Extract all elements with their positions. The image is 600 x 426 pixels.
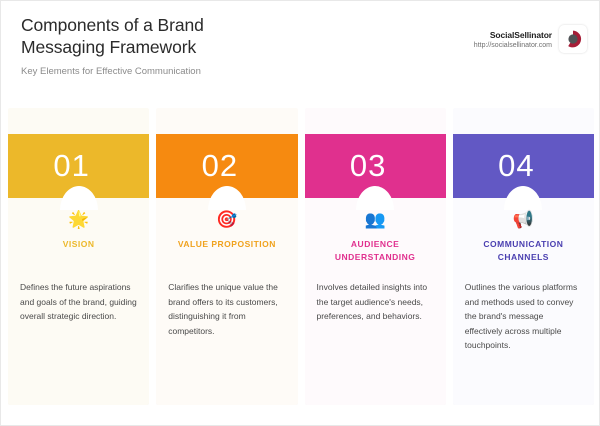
- steps-row: 01 🌟 VISION Defines the future aspiratio…: [1, 108, 600, 408]
- step-number: 02: [202, 148, 238, 184]
- two-people-icon: 👥: [305, 206, 446, 232]
- step-title: AUDIENCE UNDERSTANDING: [313, 238, 438, 264]
- step-card-01[interactable]: 01 🌟 VISION Defines the future aspiratio…: [8, 108, 149, 405]
- megaphone-icon: 📢: [453, 206, 594, 232]
- dart-target-icon: 🎯: [156, 206, 297, 232]
- page-title: Components of a Brand Messaging Framewor…: [21, 14, 351, 58]
- brand-name: SocialSellinator: [474, 30, 552, 40]
- step-number: 04: [498, 148, 534, 184]
- header: Components of a Brand Messaging Framewor…: [1, 1, 600, 108]
- brand-text: SocialSellinator http://socialsellinator…: [474, 30, 552, 49]
- step-body: Clarifies the unique value the brand off…: [168, 280, 285, 338]
- brand-url: http://socialsellinator.com: [474, 42, 552, 49]
- page-subtitle: Key Elements for Effective Communication: [21, 65, 351, 78]
- step-number: 03: [350, 148, 386, 184]
- step-card-03[interactable]: 03 👥 AUDIENCE UNDERSTANDING Involves det…: [305, 108, 446, 405]
- step-body: Outlines the various platforms and metho…: [465, 280, 582, 353]
- step-title: COMMUNICATION CHANNELS: [461, 238, 586, 264]
- step-card-02[interactable]: 02 🎯 VALUE PROPOSITION Clarifies the uni…: [156, 108, 297, 405]
- sparkle-star-icon: 🌟: [8, 206, 149, 232]
- brand-block: SocialSellinator http://socialsellinator…: [474, 25, 587, 53]
- step-card-04[interactable]: 04 📢 COMMUNICATION CHANNELS Outlines the…: [453, 108, 594, 405]
- step-number: 01: [53, 148, 89, 184]
- socialsellinator-logo-icon: [559, 25, 587, 53]
- title-block: Components of a Brand Messaging Framewor…: [21, 14, 351, 78]
- step-title: VALUE PROPOSITION: [164, 238, 289, 251]
- infographic-page: Components of a Brand Messaging Framewor…: [0, 0, 600, 426]
- step-body: Defines the future aspirations and goals…: [20, 280, 137, 324]
- step-title: VISION: [16, 238, 141, 251]
- step-body: Involves detailed insights into the targ…: [317, 280, 434, 324]
